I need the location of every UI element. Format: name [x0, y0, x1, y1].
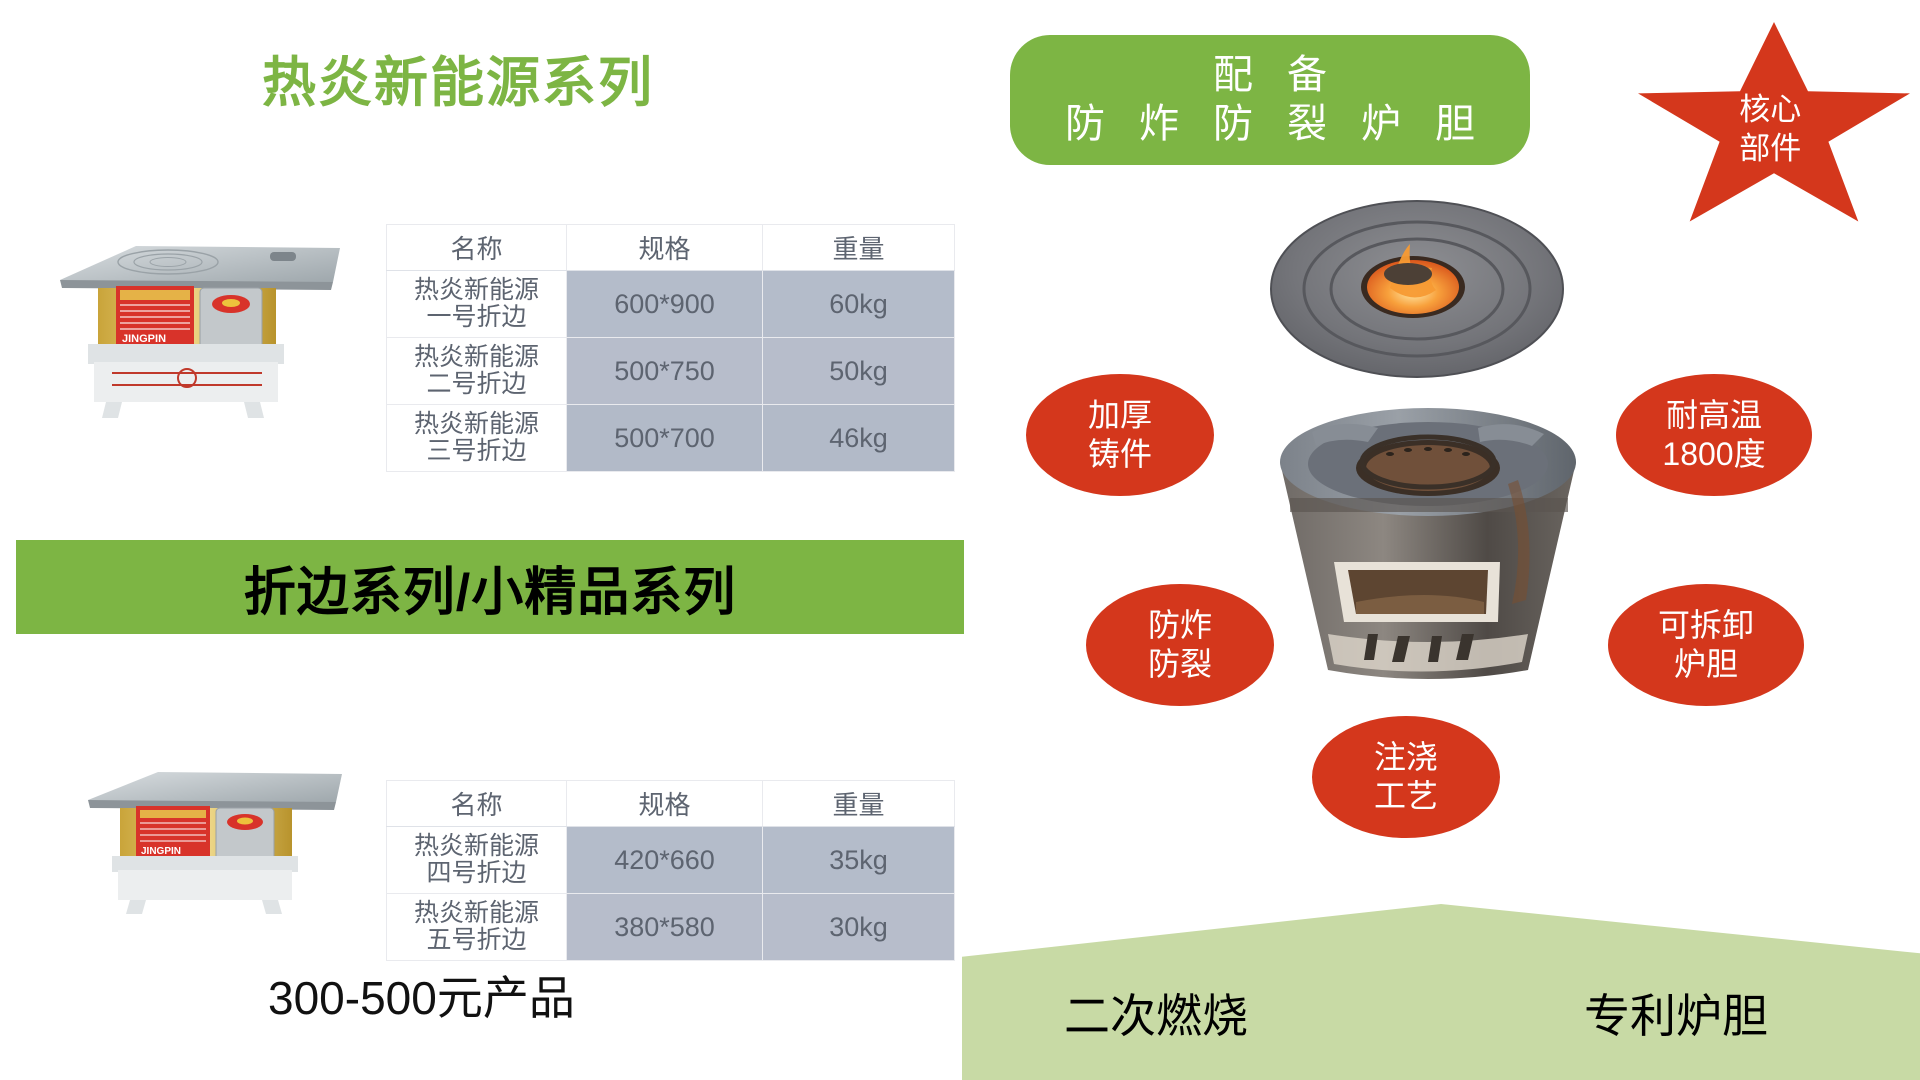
bubble-line-2: 1800度 — [1662, 436, 1765, 472]
cell-spec: 420*660 — [567, 827, 763, 894]
furnace-liner-photo — [1272, 402, 1584, 684]
feature-bubble-high-temperature: 耐高温1800度 — [1616, 374, 1812, 496]
price-note: 300-500元产品 — [268, 962, 575, 1028]
stove-photo-large: JINGPIN — [48, 232, 348, 422]
series-banner: 折边系列/小精品系列 — [16, 540, 964, 634]
cell-name: 热炎新能源 五号折边 — [387, 894, 567, 961]
cell-name-line2: 三号折边 — [389, 438, 564, 465]
bubble-line-1: 可拆卸 — [1658, 607, 1754, 643]
cell-name: 热炎新能源 二号折边 — [387, 338, 567, 405]
stove-brand-text-1: JINGPIN — [122, 333, 166, 345]
stove-photo-small: JINGPIN — [78, 760, 350, 920]
star-label: 核心 部件 — [1739, 91, 1801, 169]
feature-bubble-casting-process: 注浇工艺 — [1312, 716, 1500, 838]
feature-bubble-anti-crack: 防炸防裂 — [1086, 584, 1274, 706]
spec-table-secondary: 名称 规格 重量 热炎新能源 四号折边 420*660 35kg 热炎新能源 五… — [386, 780, 955, 961]
feature-pill-badge: 配 备 防 炸 防 裂 炉 胆 — [1010, 35, 1530, 165]
bubble-line-1: 注浇 — [1374, 739, 1438, 775]
core-component-star: 核心 部件 — [1638, 22, 1910, 232]
pill-line-2: 防 炸 防 裂 炉 胆 — [1053, 100, 1487, 149]
bubble-text: 防炸防裂 — [1148, 606, 1212, 684]
cell-spec: 600*900 — [567, 271, 763, 338]
bubble-line-2: 炉胆 — [1674, 646, 1738, 682]
cell-weight: 50kg — [763, 338, 955, 405]
star-line-2: 部件 — [1739, 130, 1801, 169]
series-banner-label: 折边系列/小精品系列 — [244, 550, 736, 625]
table-row: 热炎新能源 四号折边 420*660 35kg — [387, 827, 955, 894]
cell-name-line1: 热炎新能源 — [389, 411, 564, 438]
cell-weight: 35kg — [763, 827, 955, 894]
bubble-line-2: 工艺 — [1374, 778, 1438, 814]
bubble-text: 注浇工艺 — [1374, 738, 1438, 816]
cell-weight: 46kg — [763, 405, 955, 472]
cell-spec: 500*700 — [567, 405, 763, 472]
table-header-row: 名称 规格 重量 — [387, 225, 955, 271]
bubble-line-1: 耐高温 — [1666, 397, 1762, 433]
table-row: 热炎新能源 一号折边 600*900 60kg — [387, 271, 955, 338]
feature-bubble-thick-casting: 加厚铸件 — [1026, 374, 1214, 496]
col-header-spec: 规格 — [567, 781, 763, 827]
cell-name-line2: 二号折边 — [389, 371, 564, 398]
cell-spec: 500*750 — [567, 338, 763, 405]
spec-table-primary: 名称 规格 重量 热炎新能源 一号折边 600*900 60kg 热炎新能源 二… — [386, 224, 955, 472]
cell-spec: 380*580 — [567, 894, 763, 961]
bubble-text: 加厚铸件 — [1088, 396, 1152, 474]
table-header-row: 名称 规格 重量 — [387, 781, 955, 827]
bottom-banner-label-left: 二次燃烧 — [1064, 980, 1248, 1046]
cell-weight: 30kg — [763, 894, 955, 961]
table-row: 热炎新能源 二号折边 500*750 50kg — [387, 338, 955, 405]
cell-name-line2: 五号折边 — [389, 927, 564, 954]
cell-name: 热炎新能源 三号折边 — [387, 405, 567, 472]
bubble-line-2: 铸件 — [1088, 436, 1152, 472]
stove-brand-text-2: JINGPIN — [141, 846, 181, 857]
slide-root: 热炎新能源系列 JINGPIN — [0, 0, 1920, 1080]
feature-bubble-removable-liner: 可拆卸炉胆 — [1608, 584, 1804, 706]
cell-name-line1: 热炎新能源 — [389, 900, 564, 927]
col-header-spec: 规格 — [567, 225, 763, 271]
pill-line-1: 配 备 — [1201, 51, 1339, 100]
cell-name-line1: 热炎新能源 — [389, 344, 564, 371]
col-header-weight: 重量 — [763, 781, 955, 827]
bubble-line-1: 防炸 — [1148, 607, 1212, 643]
bottom-banner-label-right: 专利炉胆 — [1584, 980, 1768, 1046]
cell-name-line1: 热炎新能源 — [389, 277, 564, 304]
bubble-text: 可拆卸炉胆 — [1658, 606, 1754, 684]
star-line-1: 核心 — [1739, 91, 1801, 130]
col-header-name: 名称 — [387, 225, 567, 271]
cell-name-line1: 热炎新能源 — [389, 833, 564, 860]
burner-ring-photo — [1262, 192, 1572, 382]
cell-name-line2: 四号折边 — [389, 860, 564, 887]
table-row: 热炎新能源 三号折边 500*700 46kg — [387, 405, 955, 472]
cell-weight: 60kg — [763, 271, 955, 338]
bubble-text: 耐高温1800度 — [1662, 396, 1765, 474]
bubble-line-1: 加厚 — [1088, 397, 1152, 433]
cell-name-line2: 一号折边 — [389, 304, 564, 331]
table-row: 热炎新能源 五号折边 380*580 30kg — [387, 894, 955, 961]
cell-name: 热炎新能源 一号折边 — [387, 271, 567, 338]
col-header-name: 名称 — [387, 781, 567, 827]
col-header-weight: 重量 — [763, 225, 955, 271]
cell-name: 热炎新能源 四号折边 — [387, 827, 567, 894]
page-title: 热炎新能源系列 — [262, 38, 654, 117]
bubble-line-2: 防裂 — [1148, 646, 1212, 682]
